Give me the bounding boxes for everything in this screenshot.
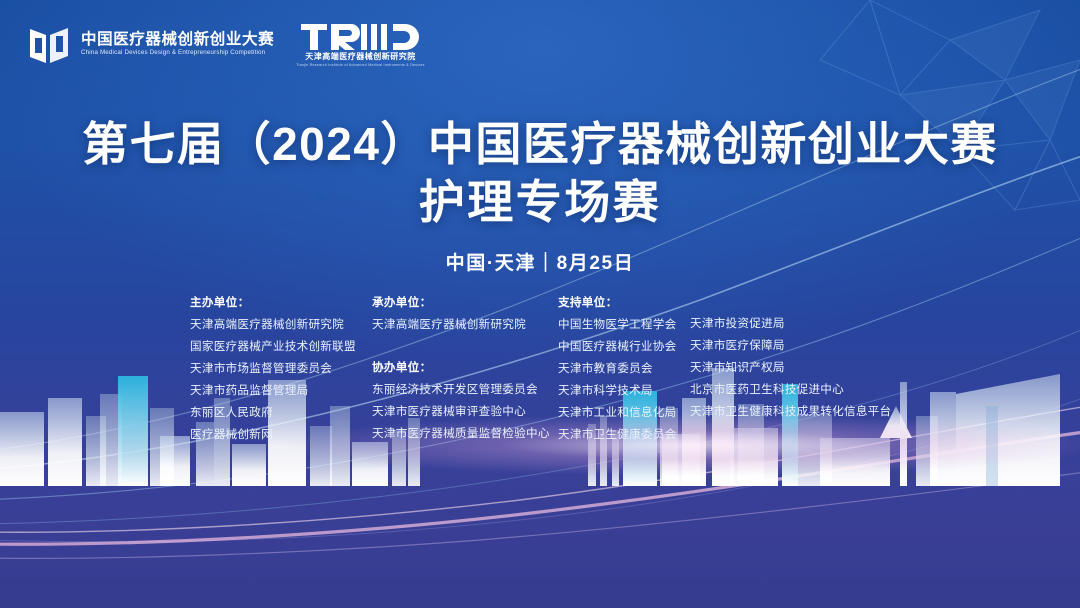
host-item: 国家医疗器械产业技术创新联盟 (190, 336, 372, 358)
competition-logo-cn: 中国医疗器械创新创业大赛 (81, 32, 274, 48)
event-poster: 中国医疗器械创新创业大赛 China Medical Devices Desig… (0, 0, 1080, 608)
title-block: 第七届（2024）中国医疗器械创新创业大赛 护理专场赛 中国·天津｜8月25日 (0, 116, 1080, 275)
page-title-line1: 第七届（2024）中国医疗器械创新创业大赛 (0, 116, 1080, 174)
supporters-heading: 支持单位： (558, 292, 690, 314)
host-item: 天津市药品监督管理局 (190, 380, 372, 402)
institute-logo-en: Tianjin Research Institute of Advanced M… (296, 63, 425, 67)
host-item: 医疗器械创新网 (190, 424, 372, 446)
page-title-line2: 护理专场赛 (0, 174, 1080, 232)
trmid-wordmark-icon (301, 22, 419, 52)
supporter-item: 天津市卫生健康委员会 (558, 424, 690, 446)
open-book-door-mark-icon (26, 23, 72, 67)
coorganizer-item: 天津市医疗器械质量监督检验中心 (372, 423, 558, 445)
supporter-item: 天津市投资促进局 (690, 313, 900, 335)
organizers-column-supporters-a: 支持单位： 中国生物医学工程学会 中国医疗器械行业协会 天津市教育委员会 天津市… (558, 292, 690, 446)
host-item: 天津市市场监督管理委员会 (190, 358, 372, 380)
supporter-item: 天津市卫生健康科技成果转化信息平台 (690, 401, 900, 423)
institute-logo: 天津高端医疗器械创新研究院 Tianjin Research Institute… (296, 22, 425, 67)
coorganizer-item: 天津市医疗器械审评查验中心 (372, 401, 558, 423)
coorganizer-item: 东丽经济技术开发区管理委员会 (372, 379, 558, 401)
supporter-item: 天津市知识产权局 (690, 357, 900, 379)
column-spacer (372, 336, 558, 357)
supporter-item: 天津市科学技术局 (558, 380, 690, 402)
logo-bar: 中国医疗器械创新创业大赛 China Medical Devices Desig… (26, 22, 425, 67)
institute-logo-cn: 天津高端医疗器械创新研究院 (305, 53, 416, 62)
organizers-column-undertaker: 承办单位： 天津高端医疗器械创新研究院 协办单位： 东丽经济技术开发区管理委员会… (372, 292, 558, 445)
organizers-block: 主办单位： 天津高端医疗器械创新研究院 国家医疗器械产业技术创新联盟 天津市市场… (190, 292, 900, 446)
competition-logo-en: China Medical Devices Design & Entrepren… (81, 50, 274, 57)
supporter-item: 天津市教育委员会 (558, 358, 690, 380)
host-item: 天津高端医疗器械创新研究院 (190, 314, 372, 336)
host-item: 东丽区人民政府 (190, 402, 372, 424)
supporter-item: 天津市医疗保障局 (690, 335, 900, 357)
coorganizer-heading: 协办单位： (372, 357, 558, 379)
supporter-item: 中国医疗器械行业协会 (558, 336, 690, 358)
organizers-column-supporters-b: 天津市投资促进局 天津市医疗保障局 天津市知识产权局 北京市医药卫生科技促进中心… (690, 292, 900, 423)
competition-logo: 中国医疗器械创新创业大赛 China Medical Devices Desig… (26, 23, 274, 67)
organizers-column-host: 主办单位： 天津高端医疗器械创新研究院 国家医疗器械产业技术创新联盟 天津市市场… (190, 292, 372, 446)
supporter-item: 中国生物医学工程学会 (558, 314, 690, 336)
host-heading: 主办单位： (190, 292, 372, 314)
undertaker-item: 天津高端医疗器械创新研究院 (372, 314, 558, 336)
supporter-item: 北京市医药卫生科技促进中心 (690, 379, 900, 401)
event-location-date: 中国·天津｜8月25日 (0, 248, 1080, 275)
supporter-item: 天津市工业和信息化局 (558, 402, 690, 424)
undertaker-heading: 承办单位： (372, 292, 558, 314)
